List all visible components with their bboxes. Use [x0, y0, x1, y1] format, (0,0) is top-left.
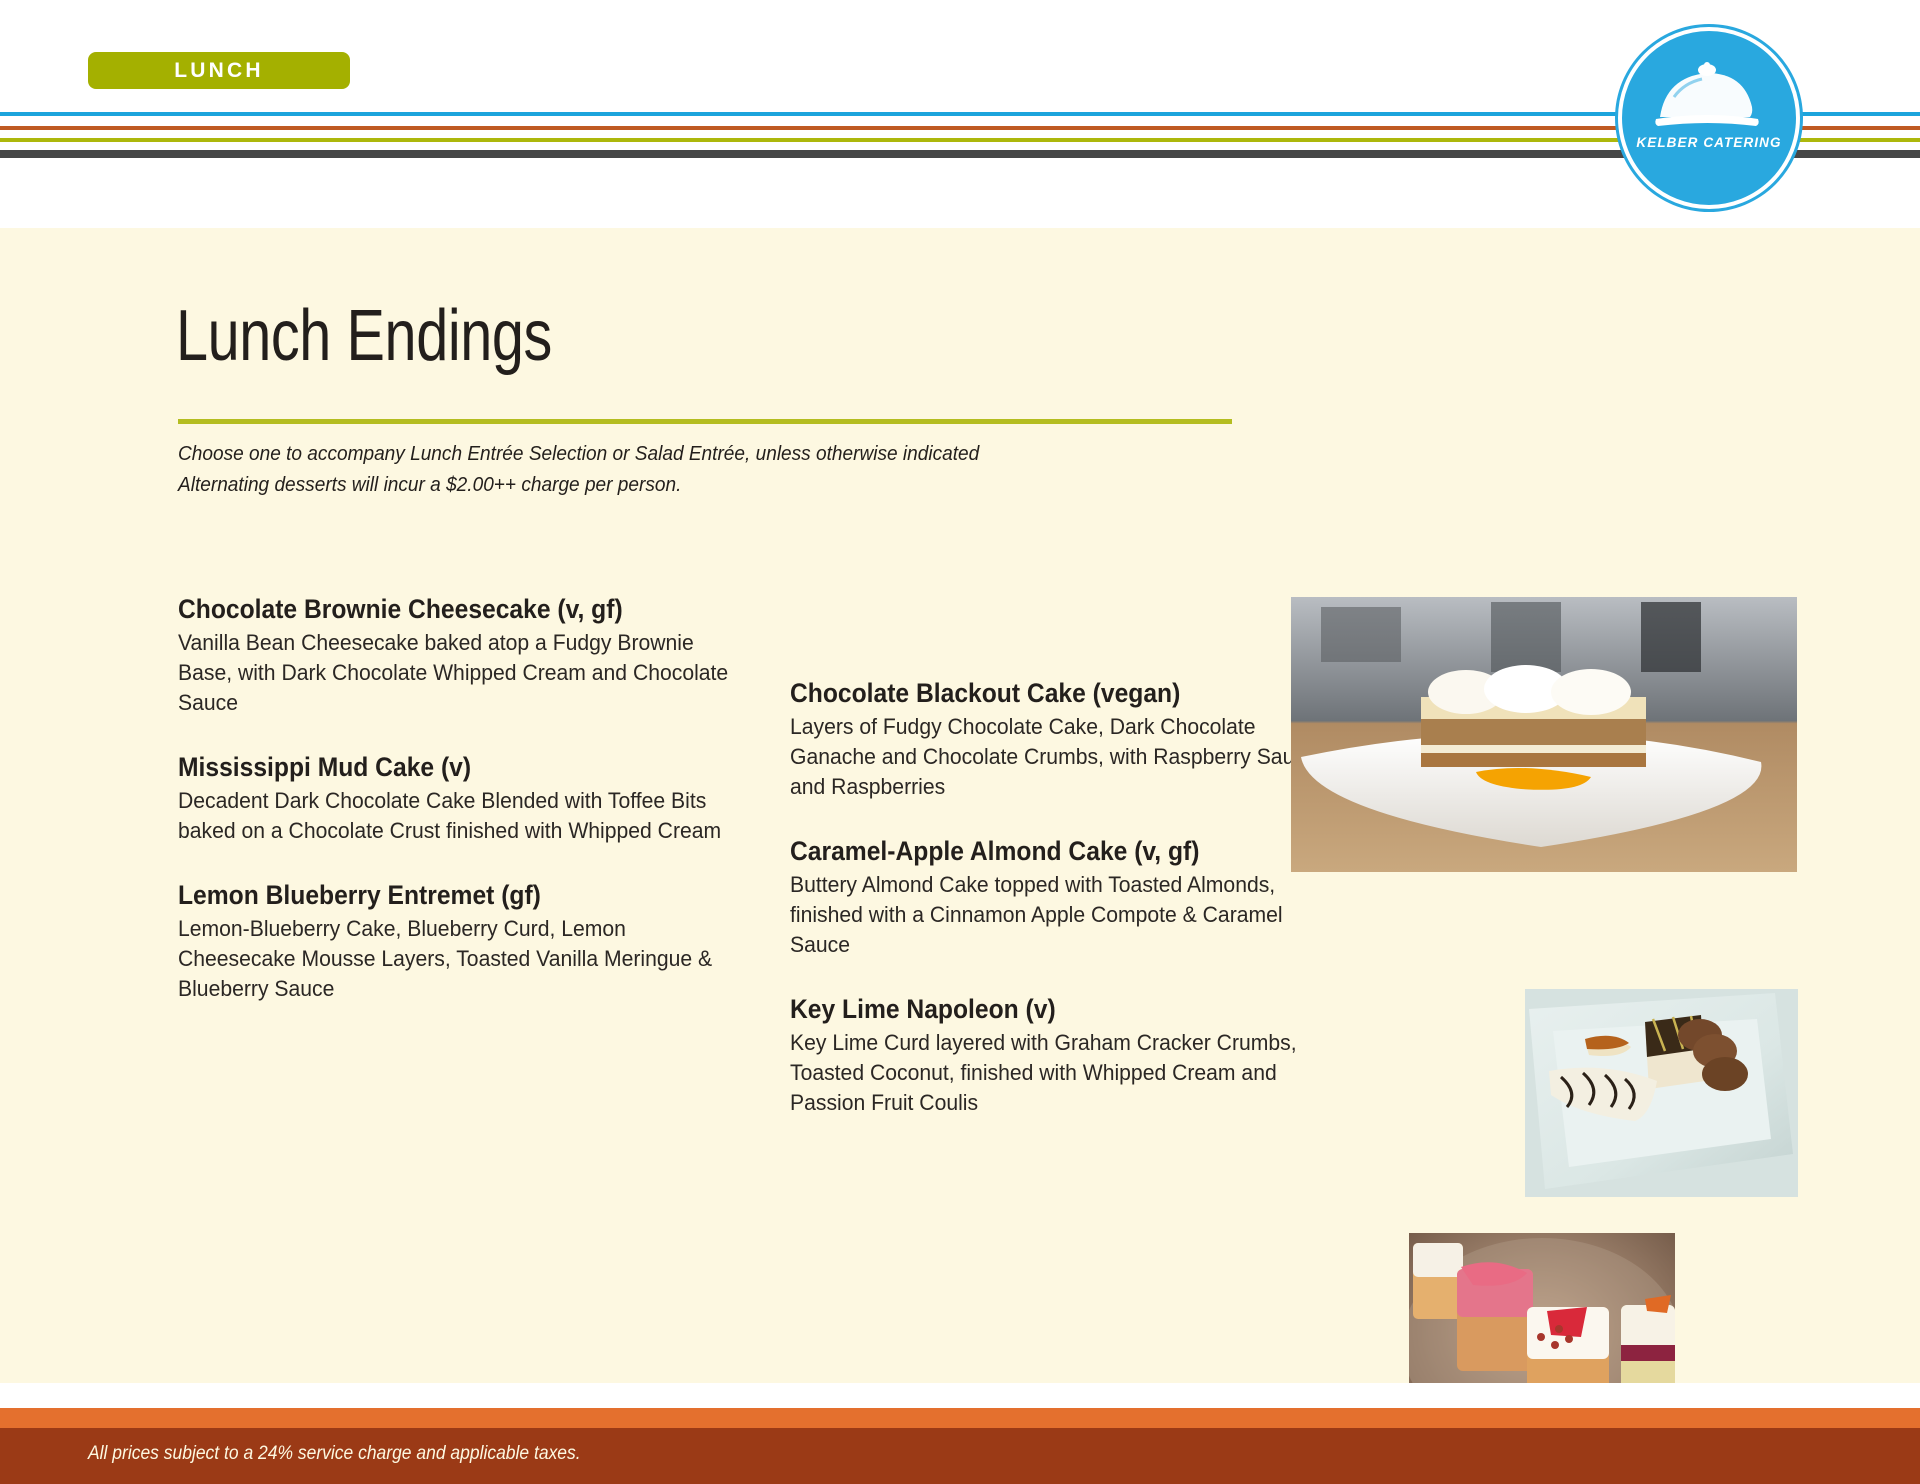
photo-illustration	[1525, 989, 1798, 1197]
footer-band-light	[0, 1408, 1920, 1428]
menu-item-name: Caramel-Apple Almond Cake (v, gf)	[790, 836, 1329, 867]
page-title: Lunch Endings	[176, 300, 552, 372]
section-badge-lunch: LUNCH	[88, 52, 350, 89]
page-content: Lunch Endings Choose one to accompany Lu…	[0, 228, 1920, 1383]
photo-illustration	[1291, 597, 1797, 872]
intro-text: Choose one to accompany Lunch Entrée Sel…	[178, 438, 1182, 500]
logo-brand-text: KELBER CATERING	[1622, 135, 1796, 150]
cloche-icon	[1622, 31, 1796, 205]
menu-item: Chocolate Brownie Cheesecake (v, gf) Van…	[178, 594, 778, 718]
menu-item: Lemon Blueberry Entremet (gf) Lemon-Blue…	[178, 880, 778, 1004]
intro-line-2: Alternating desserts will incur a $2.00+…	[178, 469, 1182, 500]
page-header: LUNCH KELBER CATERING	[0, 0, 1920, 228]
intro-line-1: Choose one to accompany Lunch Entrée Sel…	[178, 438, 1182, 469]
menu-item-description: Lemon-Blueberry Cake, Blueberry Curd, Le…	[178, 914, 742, 1004]
menu-item-description: Layers of Fudgy Chocolate Cake, Dark Cho…	[790, 712, 1335, 802]
menu-item-name: Key Lime Napoleon (v)	[790, 994, 1329, 1025]
footer-disclaimer: All prices subject to a 24% service char…	[88, 1443, 581, 1465]
menu-item-description: Decadent Dark Chocolate Cake Blended wit…	[178, 786, 742, 846]
menu-item: Mississippi Mud Cake (v) Decadent Dark C…	[178, 752, 778, 846]
menu-item-name: Lemon Blueberry Entremet (gf)	[178, 880, 736, 911]
kelber-catering-logo: KELBER CATERING	[1618, 27, 1800, 209]
section-badge-label: LUNCH	[174, 59, 264, 83]
menu-item-name: Mississippi Mud Cake (v)	[178, 752, 736, 783]
title-underline-rule	[178, 419, 1232, 424]
menu-item: Chocolate Blackout Cake (vegan) Layers o…	[790, 678, 1370, 802]
dessert-photo-cream-cake-slice	[1291, 597, 1797, 872]
menu-item-description: Vanilla Bean Cheesecake baked atop a Fud…	[178, 628, 742, 718]
menu-column-left: Chocolate Brownie Cheesecake (v, gf) Van…	[178, 594, 778, 1004]
menu-item-description: Key Lime Curd layered with Graham Cracke…	[790, 1028, 1335, 1118]
page-footer: All prices subject to a 24% service char…	[0, 1383, 1920, 1484]
menu-column-right: Chocolate Blackout Cake (vegan) Layers o…	[790, 678, 1370, 1118]
menu-item: Caramel-Apple Almond Cake (v, gf) Butter…	[790, 836, 1370, 960]
dessert-photo-chocolate-trio	[1525, 989, 1798, 1197]
menu-item-description: Buttery Almond Cake topped with Toasted …	[790, 870, 1335, 960]
menu-item-name: Chocolate Brownie Cheesecake (v, gf)	[178, 594, 736, 625]
menu-item-name: Chocolate Blackout Cake (vegan)	[790, 678, 1329, 709]
menu-item: Key Lime Napoleon (v) Key Lime Curd laye…	[790, 994, 1370, 1118]
